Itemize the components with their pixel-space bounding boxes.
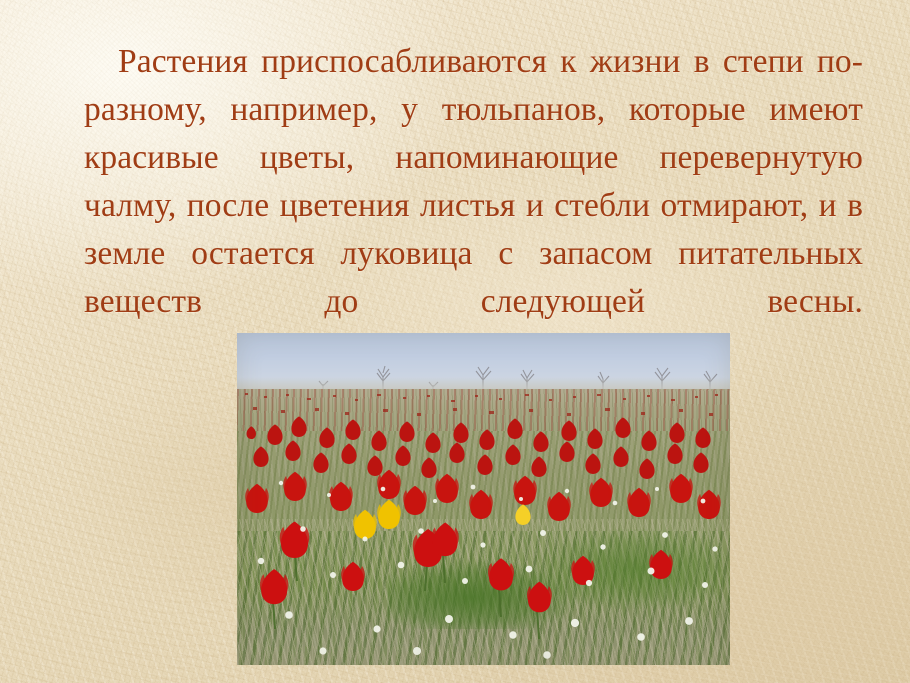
yellow-tulip xyxy=(353,500,401,539)
slide: Растения приспосабливаются к жизни в сте… xyxy=(0,0,910,683)
steppe-tulips-photo xyxy=(237,333,730,665)
photo-tulip-flowers xyxy=(237,333,730,665)
slide-body-text: Растения приспосабливаются к жизни в сте… xyxy=(84,38,863,374)
